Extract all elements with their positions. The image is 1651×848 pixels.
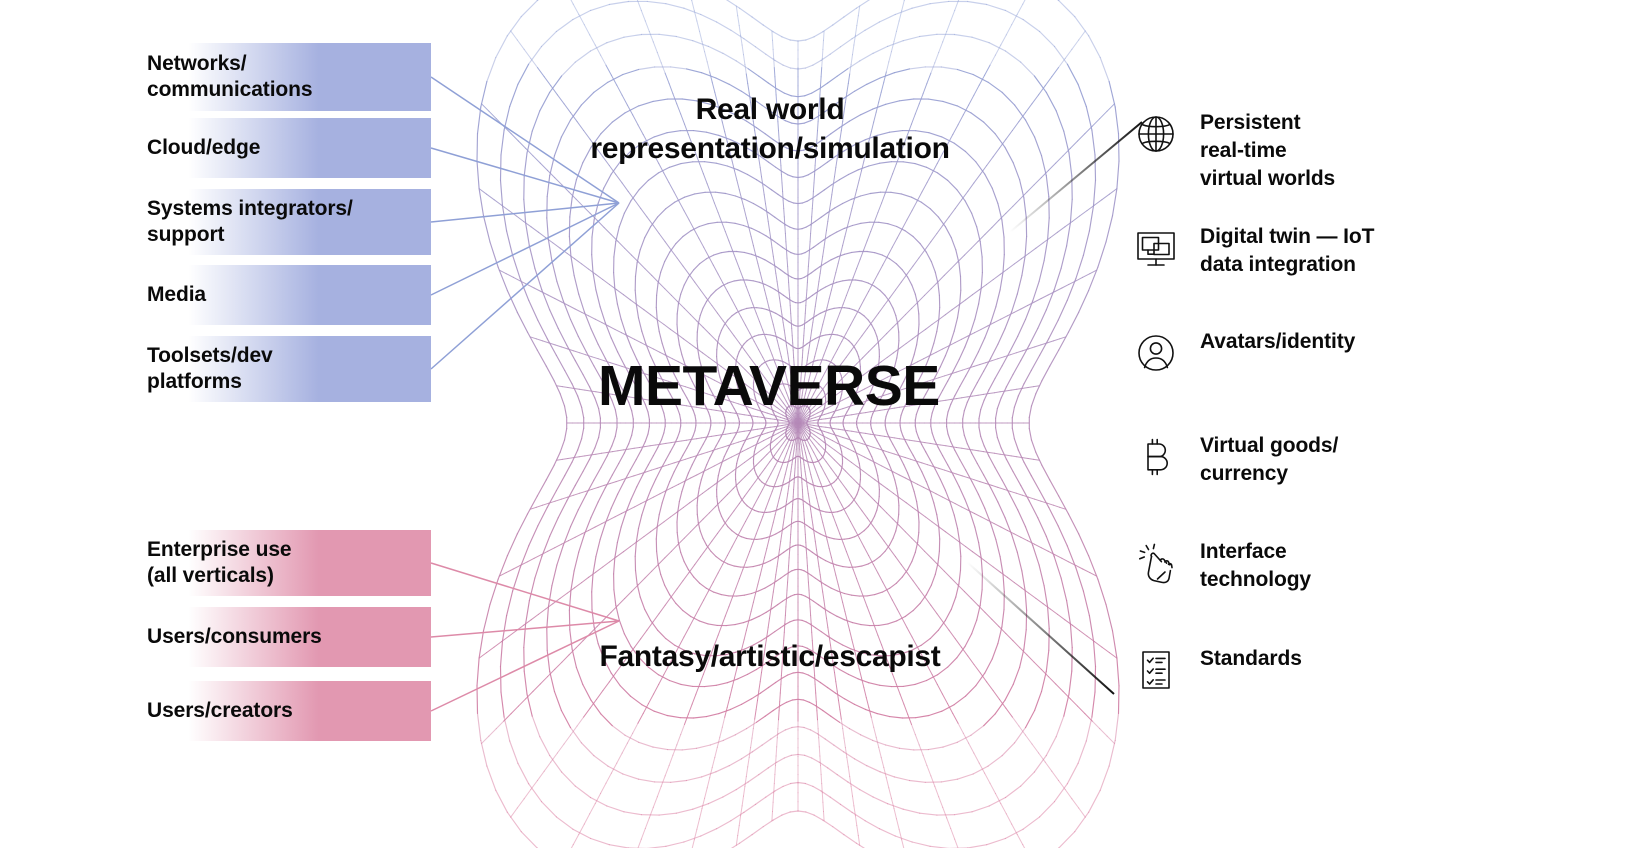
category-pill[interactable]: Toolsets/dev platforms [135,336,431,402]
feature-item[interactable]: Avatars/identity [1130,327,1355,379]
category-pill[interactable]: Media [135,265,431,325]
category-pill-label: Media [147,282,206,308]
category-connector-line [431,203,619,369]
category-pill[interactable]: Networks/ communications [135,43,431,111]
category-pill-label: Enterprise use (all verticals) [147,537,292,589]
feature-item-label: Digital twin — IoT data integration [1200,222,1374,279]
category-pill-label: Users/creators [147,698,293,724]
category-pill[interactable]: Cloud/edge [135,118,431,178]
bitcoin-icon [1130,431,1182,483]
category-pill[interactable]: Enterprise use (all verticals) [135,530,431,596]
center-label-fantasy: Fantasy/artistic/escapist [560,637,980,676]
category-connector-line [431,203,619,222]
avatar-icon [1130,327,1182,379]
category-pill[interactable]: Users/consumers [135,607,431,667]
feature-item-label: Virtual goods/ currency [1200,431,1338,488]
feature-item-label: Interface technology [1200,537,1311,594]
tap-gesture-icon [1130,537,1182,589]
checklist-icon [1130,644,1182,696]
feature-pointer-line [1010,122,1142,232]
category-connector-line [431,203,619,295]
category-pill[interactable]: Systems integrators/ support [135,189,431,255]
feature-item[interactable]: Interface technology [1130,537,1311,594]
feature-item-label: Standards [1200,644,1302,673]
category-pill-label: Systems integrators/ support [147,196,353,248]
feature-item-label: Avatars/identity [1200,327,1355,356]
category-pill[interactable]: Users/creators [135,681,431,741]
feature-item-label: Persistent real-time virtual worlds [1200,108,1335,193]
category-pill-label: Cloud/edge [147,135,260,161]
center-label-real-world: Real world representation/simulation [570,90,970,168]
digital-twin-icon [1130,222,1182,274]
category-pill-label: Toolsets/dev platforms [147,343,273,395]
globe-icon [1130,108,1182,160]
feature-item[interactable]: Persistent real-time virtual worlds [1130,108,1335,193]
category-pill-label: Users/consumers [147,624,322,650]
feature-pointer-line [967,562,1114,694]
category-connector-line [431,563,619,621]
feature-item[interactable]: Digital twin — IoT data integration [1130,222,1374,279]
feature-item[interactable]: Virtual goods/ currency [1130,431,1338,488]
category-pill-label: Networks/ communications [147,51,312,103]
feature-item[interactable]: Standards [1130,644,1302,696]
page-title: METAVERSE [598,358,940,415]
